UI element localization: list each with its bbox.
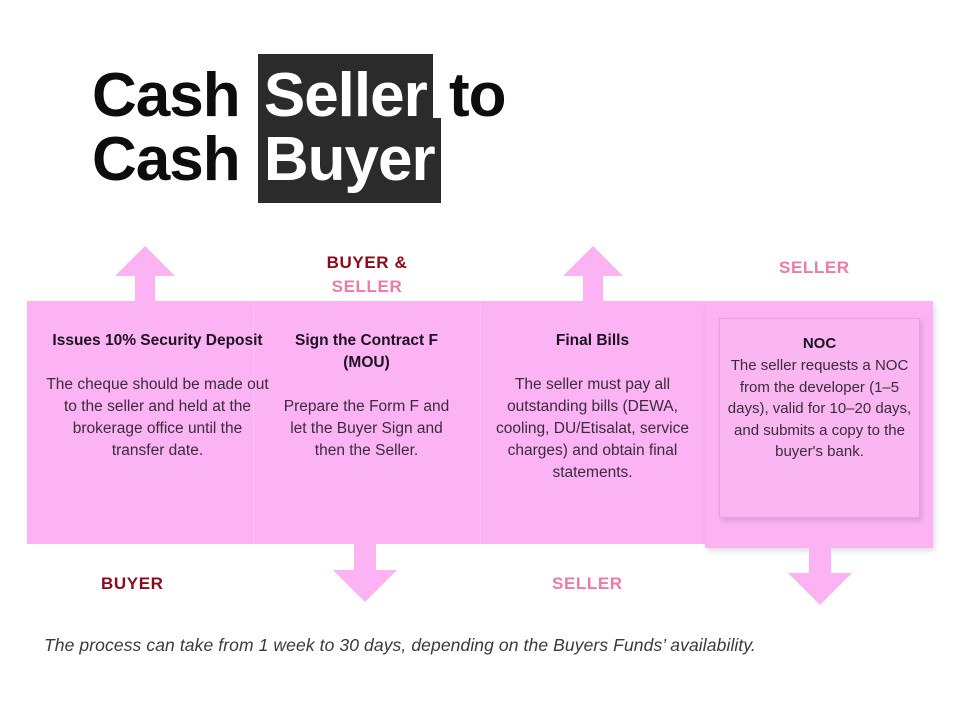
process-step-final-bills: Final Bills The seller must pay all outs…	[490, 330, 695, 484]
arrow-up-icon	[563, 246, 623, 304]
role-label-seller-sub: SELLER	[318, 275, 416, 299]
step-body: The seller must pay all outstanding bill…	[490, 374, 695, 484]
step-body: The cheque should be made out to the sel…	[45, 374, 270, 462]
step-body: Prepare the Form F and let the Buyer Sig…	[278, 396, 455, 462]
role-label-buyer-and-seller: BUYER & SELLER	[318, 251, 416, 299]
step-heading: Final Bills	[490, 330, 695, 352]
role-label-buyer-and: BUYER &	[318, 251, 416, 275]
arrow-down-head	[788, 573, 852, 605]
arrow-up-icon	[115, 246, 175, 304]
role-label-seller-bottom: SELLER	[552, 574, 623, 594]
arrow-up-head	[563, 246, 623, 276]
arrow-down-icon	[333, 540, 397, 602]
process-step-security-deposit: Issues 10% Security Deposit The cheque s…	[45, 330, 270, 462]
title-line-2-highlight: Buyer	[258, 118, 441, 203]
arrow-down-head	[333, 570, 397, 602]
title-line-1: Cash Seller to	[92, 62, 792, 130]
title-line-1-plain: Cash	[92, 61, 256, 130]
role-label-seller-top-right: SELLER	[779, 258, 850, 278]
role-label-buyer-bottom: BUYER	[101, 574, 164, 594]
step-heading: NOC	[727, 333, 912, 355]
arrow-up-shaft	[135, 275, 155, 304]
process-step-noc-card: NOC The seller requests a NOC from the d…	[719, 318, 920, 518]
footer-note: The process can take from 1 week to 30 d…	[44, 635, 924, 656]
title-line-2-plain: Cash	[92, 125, 256, 194]
band-divider	[480, 301, 481, 544]
slide-canvas: Cash Seller to Cash Buyer BUYER & SELLER…	[0, 0, 960, 720]
arrow-up-head	[115, 246, 175, 276]
page-title: Cash Seller to Cash Buyer	[92, 62, 792, 194]
step-heading: Sign the Contract F (MOU)	[278, 330, 455, 374]
arrow-down-shaft	[354, 540, 376, 571]
process-step-sign-contract: Sign the Contract F (MOU) Prepare the Fo…	[278, 330, 455, 462]
step-body: The seller requests a NOC from the devel…	[727, 355, 912, 463]
title-line-1-tail: to	[433, 61, 506, 130]
arrow-down-shaft	[809, 546, 831, 574]
arrow-down-icon	[788, 546, 852, 608]
title-line-2: Cash Buyer	[92, 126, 792, 194]
arrow-up-shaft	[583, 275, 603, 304]
step-heading: Issues 10% Security Deposit	[45, 330, 270, 352]
